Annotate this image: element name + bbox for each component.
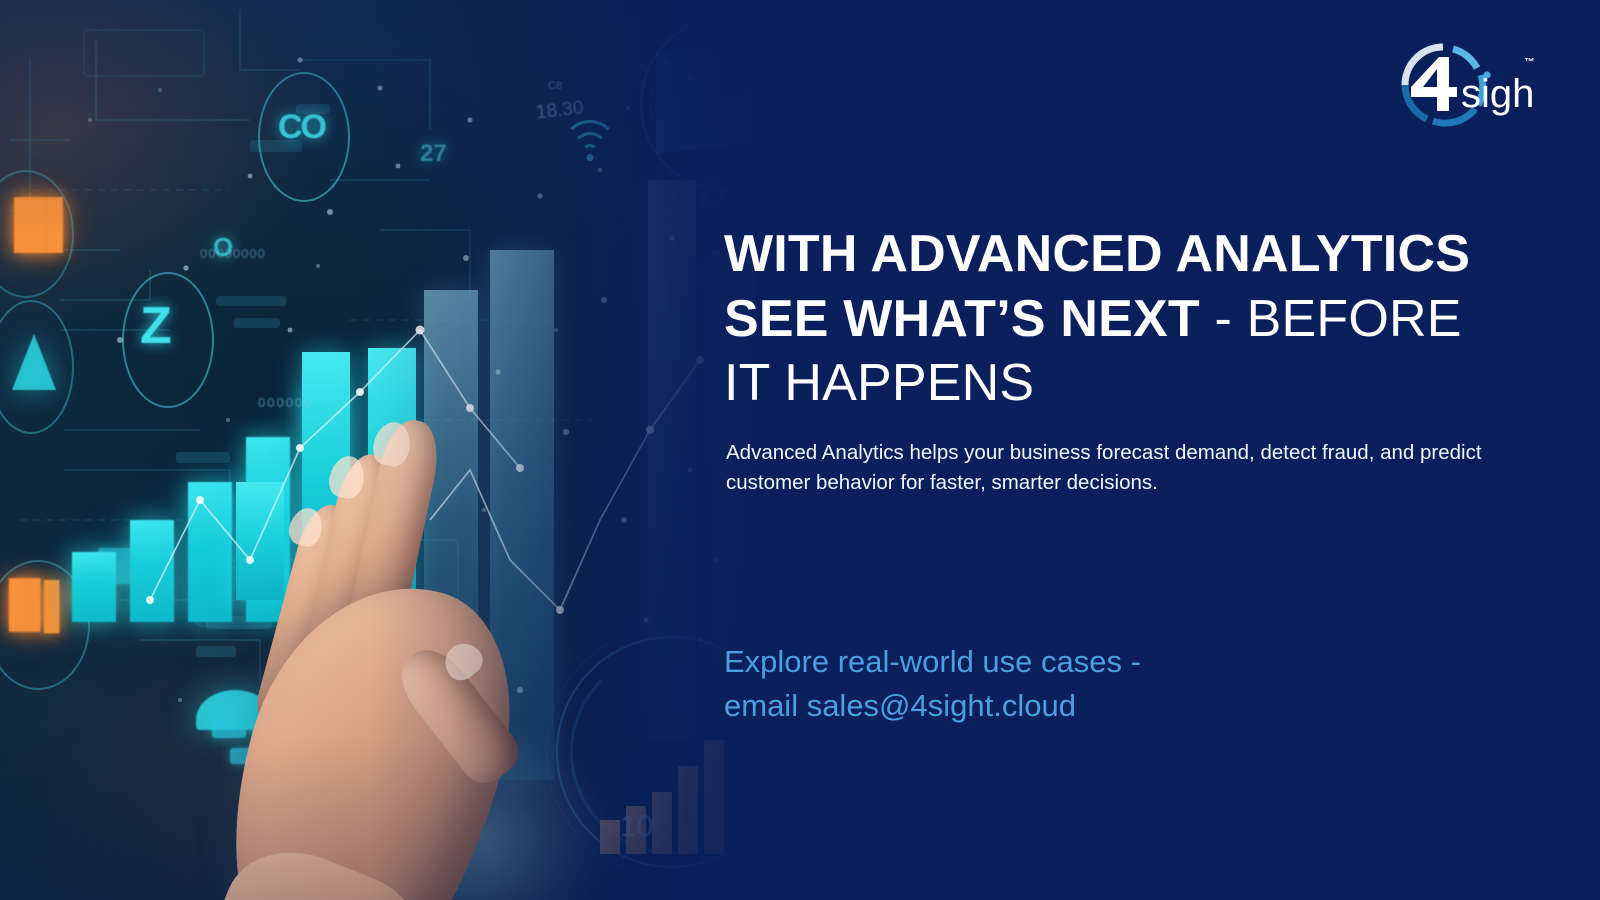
marketing-banner: CO Z O 27 █▌ ▉▌▀ bbox=[0, 0, 1600, 900]
brand-logo[interactable]: sight ™ bbox=[1383, 35, 1533, 135]
cta-line-2-email[interactable]: email sales@4sight.cloud bbox=[724, 688, 1076, 723]
headline-line-2-strong: SEE WHAT’S NEXT bbox=[724, 290, 1200, 348]
logo-i-dot bbox=[1483, 71, 1490, 78]
headline-line-1: WITH ADVANCED ANALYTICS bbox=[724, 225, 1470, 283]
subcopy-text: Advanced Analytics helps your business f… bbox=[726, 438, 1486, 498]
logo-mark: sight bbox=[1383, 35, 1533, 135]
cta-line-1: Explore real-world use cases - bbox=[724, 644, 1141, 679]
trademark-symbol: ™ bbox=[1525, 57, 1536, 68]
headline-line-3: IT HAPPENS bbox=[724, 354, 1034, 412]
cta-block[interactable]: Explore real-world use cases - email sal… bbox=[724, 640, 1364, 728]
headline-line-2-light: - BEFORE bbox=[1200, 290, 1462, 348]
logo-wordmark: sight bbox=[1461, 72, 1533, 116]
page-title: WITH ADVANCED ANALYTICS SEE WHAT’S NEXT … bbox=[724, 222, 1514, 416]
